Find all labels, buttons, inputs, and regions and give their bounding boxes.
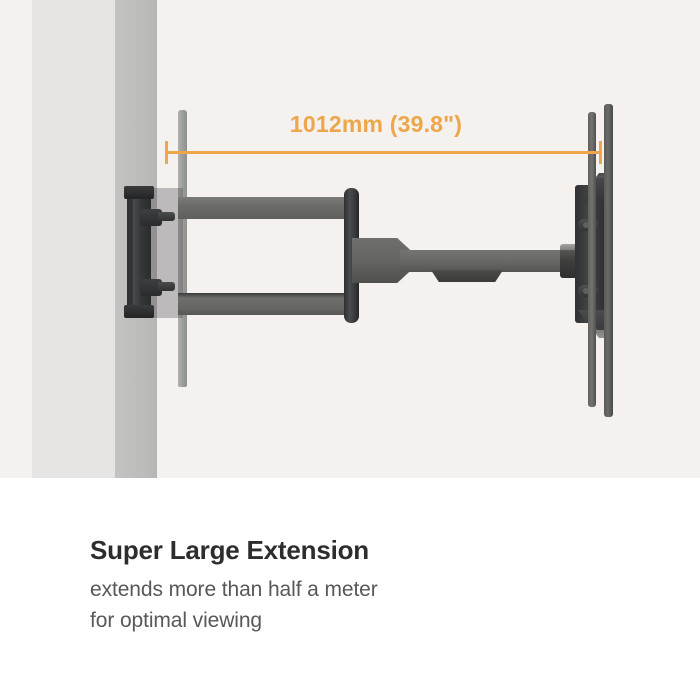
- caption-body-line-1: extends more than half a meter: [90, 574, 378, 605]
- wall-plate-tab-lower: [158, 282, 175, 291]
- dimension-label-wrapper: 1012mm (39.8"): [0, 111, 700, 138]
- tv-panel-right-edge: [604, 104, 613, 417]
- wall-plate-bottom-cap: [124, 305, 154, 318]
- caption-body-line-2: for optimal viewing: [90, 605, 378, 636]
- dimension-tick-left: [165, 141, 168, 164]
- wall-plate-top-cap: [124, 186, 154, 199]
- dimension-tick-right: [599, 141, 602, 164]
- wall-face: [32, 0, 115, 478]
- wall-plate-tab-upper: [158, 212, 175, 221]
- caption-panel: Super Large Extension extends more than …: [0, 478, 700, 700]
- arm-segment-one-bottom-rail: [178, 293, 353, 315]
- dimension-label: 1012mm (39.8"): [276, 111, 476, 138]
- product-image-panel: 1012mm (39.8"): [0, 0, 700, 478]
- cable-management-cover: [423, 270, 511, 282]
- product-feature-card: 1012mm (39.8") Super Large Extension ext…: [0, 0, 700, 700]
- arm-segment-one-top-rail: [178, 197, 353, 219]
- dimension-line: [165, 151, 602, 154]
- caption-body: extends more than half a meter for optim…: [90, 574, 378, 636]
- caption-heading: Super Large Extension: [90, 535, 369, 566]
- tv-bracket-vertical-rail: [588, 112, 596, 407]
